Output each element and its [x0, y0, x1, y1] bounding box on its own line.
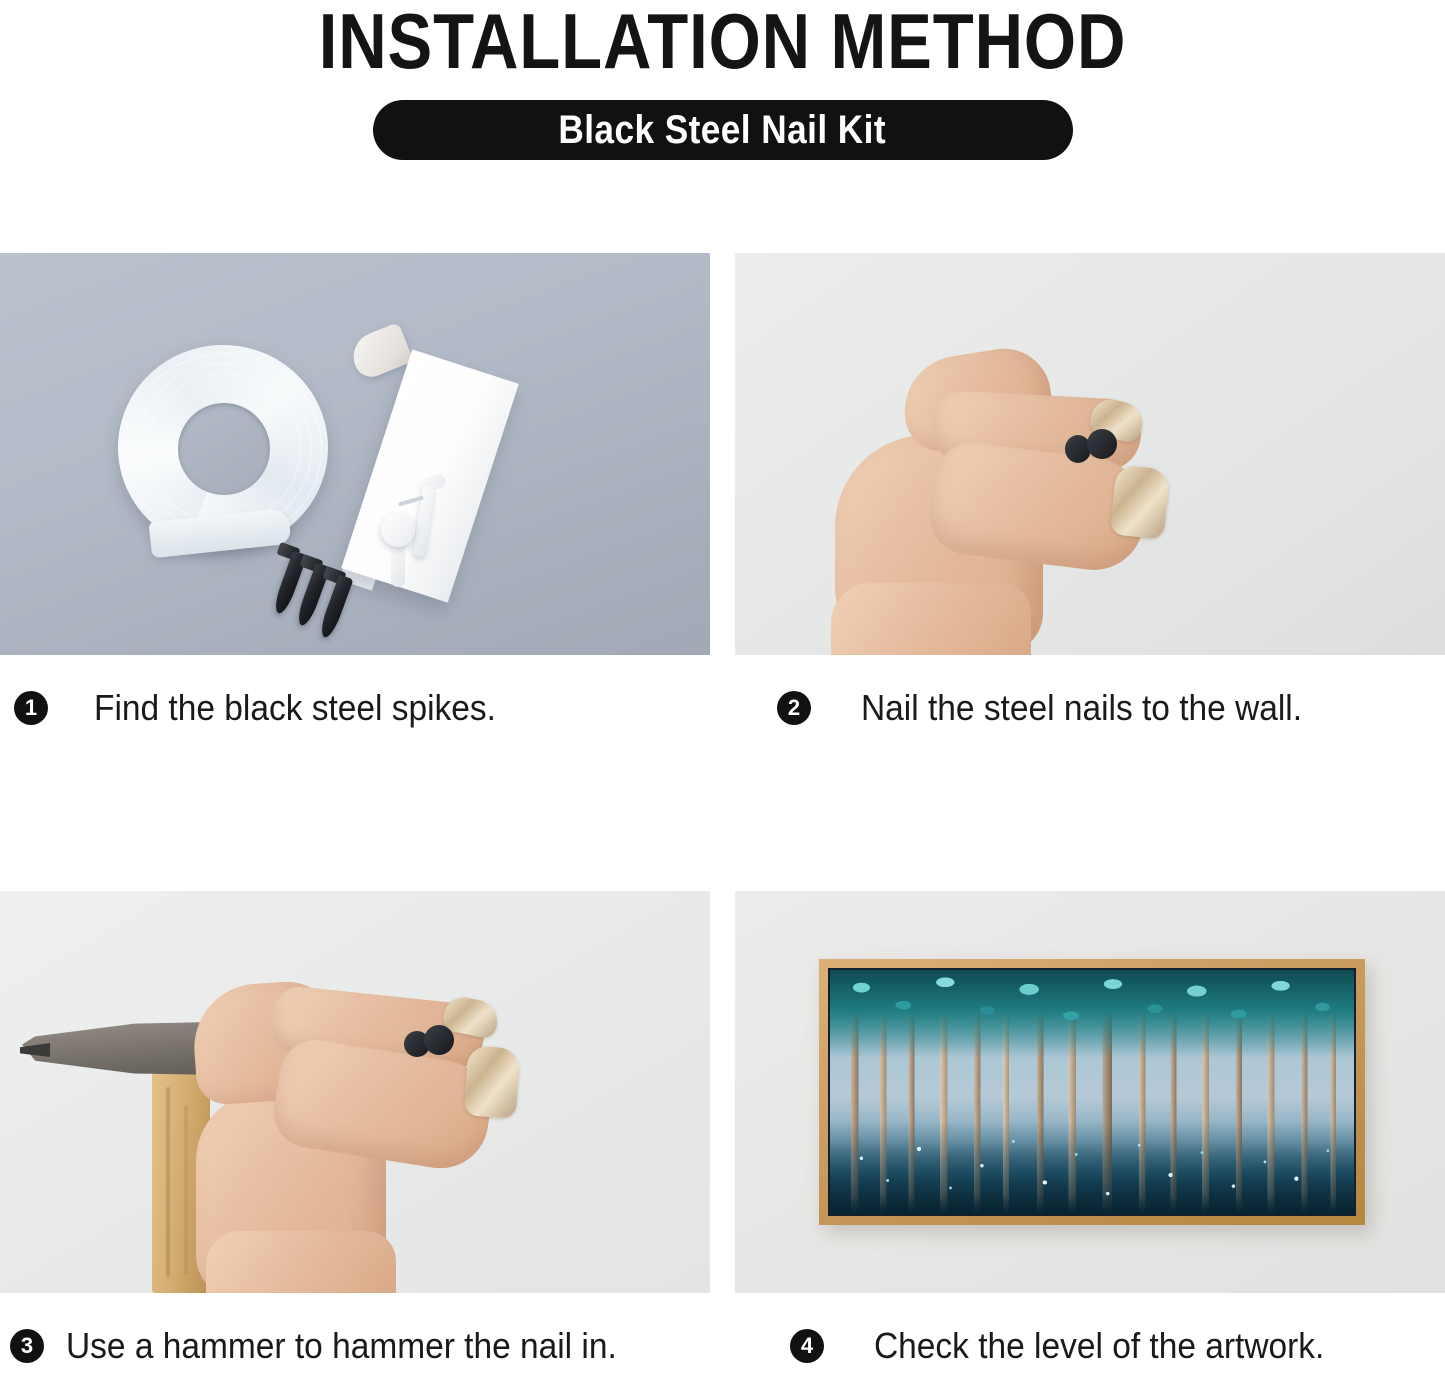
kit-contents-photo [0, 253, 710, 655]
hammer-nail-photo [0, 891, 710, 1293]
wood-grain [184, 1105, 188, 1275]
step-2-caption: 2 Nail the steel nails to the wall. [735, 673, 1445, 743]
steps-row-2: 3 Use a hammer to hammer the nail in. 4 [0, 891, 1445, 1381]
manicured-fingernail [1109, 464, 1170, 539]
manicured-fingernail [464, 1045, 521, 1118]
step-number-badge: 1 [14, 691, 48, 725]
step-2: 2 Nail the steel nails to the wall. [735, 253, 1445, 743]
tape-roll-hole [178, 403, 270, 495]
teal-foliage-canopy [830, 970, 1354, 1058]
step-4: 4 Check the level of the artwork. [735, 891, 1445, 1381]
steel-nail-head-icon [1087, 429, 1117, 459]
kit-badge-label: Black Steel Nail Kit [559, 108, 887, 153]
step-3-caption-text: Use a hammer to hammer the nail in. [66, 1325, 617, 1367]
spacer [0, 655, 710, 673]
page-title: INSTALLATION METHOD [101, 0, 1344, 80]
framed-artwork-photo [735, 891, 1445, 1293]
step-1-caption: 1 Find the black steel spikes. [0, 673, 710, 743]
step-2-caption-text: Nail the steel nails to the wall. [861, 687, 1302, 729]
artwork-canvas [828, 968, 1356, 1216]
step-4-caption-text: Check the level of the artwork. [874, 1325, 1324, 1367]
spacer [735, 655, 1445, 673]
steel-nail-head-icon [424, 1025, 454, 1055]
artwork-frame [819, 959, 1365, 1225]
steps-row-1: 1 Find the black steel spikes. 2 Na [0, 253, 1445, 743]
plastic-hook-stem [391, 541, 405, 587]
hand-wrist [831, 583, 1031, 655]
hand-wrist [206, 1231, 396, 1293]
page-header: INSTALLATION METHOD Black Steel Nail Kit [0, 0, 1445, 160]
step-1-caption-text: Find the black steel spikes. [94, 687, 496, 729]
step-1: 1 Find the black steel spikes. [0, 253, 710, 743]
step-number-badge: 3 [10, 1329, 44, 1363]
step-number-badge: 2 [777, 691, 811, 725]
kit-badge: Black Steel Nail Kit [373, 100, 1073, 160]
wood-grain [166, 1087, 170, 1277]
desk-surface [0, 253, 710, 655]
step-4-caption: 4 Check the level of the artwork. [735, 1311, 1445, 1381]
spacer [0, 1293, 710, 1311]
white-plastic-hook-icon [381, 513, 415, 547]
steps-grid: 1 Find the black steel spikes. 2 Na [0, 253, 1445, 1381]
spacer [735, 1293, 1445, 1311]
step-3: 3 Use a hammer to hammer the nail in. [0, 891, 710, 1381]
kit-badge-row: Black Steel Nail Kit [0, 100, 1445, 160]
step-number-badge: 4 [790, 1329, 824, 1363]
blue-speckle-undergrowth [830, 1121, 1354, 1214]
step-3-caption: 3 Use a hammer to hammer the nail in. [0, 1311, 710, 1381]
hand-holding-nail-photo [735, 253, 1445, 655]
row-spacer [0, 743, 1445, 891]
